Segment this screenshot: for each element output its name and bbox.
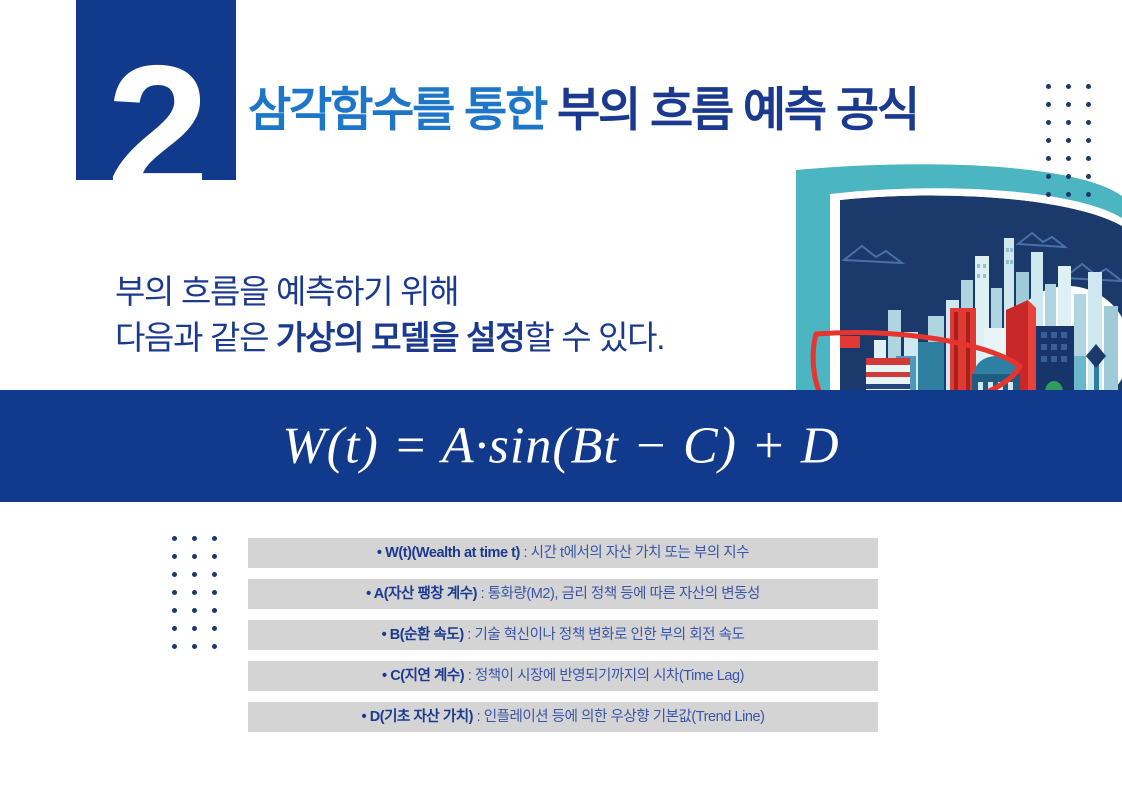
legend-desc: : 시간 t에서의 자산 가치 또는 부의 지수	[520, 545, 749, 561]
subtitle-line-2-a: 다음과 같은	[115, 319, 276, 356]
legend-key: • W(t)(Wealth at time t)	[377, 545, 520, 561]
page-title-dark: 부의 흐름 예측 공식	[557, 83, 918, 136]
legend-desc: : 정책이 시장에 반영되기까지의 시차(Time Lag)	[464, 668, 744, 684]
subtitle-line-1: 부의 흐름을 예측하기 위해	[115, 269, 664, 315]
subtitle-line-2-c: 할 수 있다.	[524, 319, 664, 356]
legend-desc: : 인플레이션 등에 의한 우상향 기본값(Trend Line)	[473, 709, 764, 725]
dot-grid-legend-icon	[172, 536, 220, 649]
page-title-light: 삼각함수를 통한	[248, 83, 546, 136]
page-title: 삼각함수를 통한 부의 흐름 예측 공식	[248, 86, 918, 133]
list-item: • D(기초 자산 가치) : 인플레이션 등에 의한 우상향 기본값(Tren…	[248, 702, 878, 732]
list-item: • A(자산 팽창 계수) : 통화량(M2), 금리 정책 등에 따른 자산의…	[248, 579, 878, 609]
list-item: • B(순환 속도) : 기술 혁신이나 정책 변화로 인한 부의 회전 속도	[248, 620, 878, 650]
legend-list: • W(t)(Wealth at time t) : 시간 t에서의 자산 가치…	[248, 538, 878, 743]
legend-key: • C(지연 계수)	[382, 668, 464, 684]
section-number: 2	[76, 39, 236, 224]
legend-key: • D(기초 자산 가치)	[362, 709, 473, 725]
section-number-block: 2	[76, 0, 236, 180]
formula-band: W(t) = A·sin(Bt − C) + D	[0, 390, 1122, 502]
subtitle-line-2: 다음과 같은 가상의 모델을 설정할 수 있다.	[115, 315, 664, 361]
list-item: • W(t)(Wealth at time t) : 시간 t에서의 자산 가치…	[248, 538, 878, 568]
slide-canvas: 2 삼각함수를 통한 부의 흐름 예측 공식	[0, 0, 1122, 793]
legend-desc: : 기술 혁신이나 정책 변화로 인한 부의 회전 속도	[464, 627, 745, 643]
legend-key: • A(자산 팽창 계수)	[366, 586, 477, 602]
list-item: • C(지연 계수) : 정책이 시장에 반영되기까지의 시차(Time Lag…	[248, 661, 878, 691]
subtitle-line-2-b: 가상의 모델을 설정	[276, 319, 524, 356]
dot-grid-header-icon	[1046, 84, 1094, 197]
formula-text: W(t) = A·sin(Bt − C) + D	[0, 417, 1122, 476]
subtitle: 부의 흐름을 예측하기 위해 다음과 같은 가상의 모델을 설정할 수 있다.	[115, 269, 664, 361]
legend-key: • B(순환 속도)	[382, 627, 464, 643]
legend-desc: : 통화량(M2), 금리 정책 등에 따른 자산의 변동성	[477, 586, 760, 602]
